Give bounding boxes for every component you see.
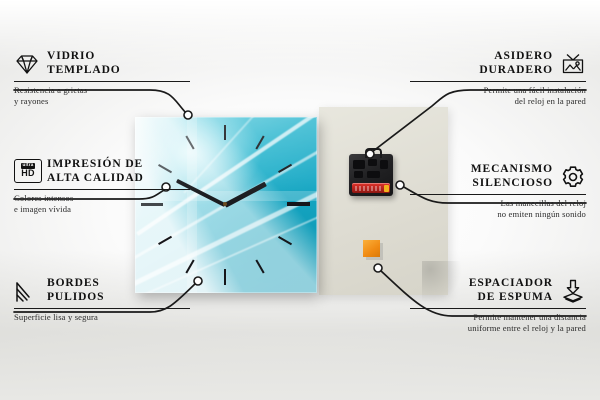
feature-title-line-2: SILENCIOSO	[471, 177, 553, 191]
foam-spacer	[363, 240, 380, 257]
mechanism-detail	[353, 160, 365, 169]
feature-rule	[14, 81, 190, 82]
mechanism-detail	[368, 159, 377, 166]
feature-desc-line-1: Resistencia a grietas	[14, 85, 190, 96]
feature-title: ASIDERO DURADERO	[479, 50, 553, 77]
ultra-hd-icon: ultra HD	[14, 159, 40, 185]
feature-espaciador-de-espuma: ESPACIADOR DE ESPUMA Permite mantener un…	[410, 277, 586, 334]
feature-header: VIDRIO TEMPLADO	[14, 50, 190, 77]
feature-impresion-alta-calidad: ultra HD IMPRESIÓN DE ALTA CALIDAD Color…	[14, 158, 190, 215]
mechanism-detail	[367, 171, 380, 178]
feature-title: VIDRIO TEMPLADO	[47, 50, 121, 77]
feature-title-line-1: VIDRIO	[47, 50, 121, 64]
clock-mechanism	[349, 154, 393, 196]
ultra-hd-icon-large-text: HD	[21, 169, 34, 178]
mechanism-detail	[354, 171, 363, 178]
feature-rule	[410, 308, 586, 309]
feature-desc-line-1: Superficie lisa y segura	[14, 312, 190, 323]
feature-desc-line-2: uniforme entre el reloj y la pared	[410, 323, 586, 334]
feature-description: Colores intensos e imagen vívida	[14, 193, 190, 215]
feature-title-line-1: BORDES	[47, 277, 104, 291]
feature-title: ESPACIADOR DE ESPUMA	[469, 277, 553, 304]
diamond-icon	[14, 51, 40, 77]
feature-title-line-2: TEMPLADO	[47, 64, 121, 78]
feature-title-line-2: DE ESPUMA	[469, 291, 553, 305]
battery-label	[355, 186, 382, 191]
feature-title-line-2: ALTA CALIDAD	[47, 172, 144, 186]
feature-header: ultra HD IMPRESIÓN DE ALTA CALIDAD	[14, 158, 190, 185]
feature-desc-line-2: e imagen vívida	[14, 204, 190, 215]
feature-description: Superficie lisa y segura	[14, 312, 190, 323]
feature-title-line-2: PULIDOS	[47, 291, 104, 305]
feature-rule	[410, 194, 586, 195]
picture-hanger-icon	[560, 51, 586, 77]
feature-title-line-1: ESPACIADOR	[469, 277, 553, 291]
polished-edges-icon	[14, 278, 40, 304]
feature-title: IMPRESIÓN DE ALTA CALIDAD	[47, 158, 144, 185]
feature-header: ASIDERO DURADERO	[410, 50, 586, 77]
feature-description: Resistencia a grietas y rayones	[14, 85, 190, 107]
feature-title-line-1: ASIDERO	[479, 50, 553, 64]
feature-rule	[14, 189, 190, 190]
feature-title-line-1: MECANISMO	[471, 163, 553, 177]
feature-title: MECANISMO SILENCIOSO	[471, 163, 553, 190]
feature-description: Permite una fácil instalación del reloj …	[410, 85, 586, 107]
feature-rule	[14, 308, 190, 309]
feature-asidero-duradero: ASIDERO DURADERO Permite una fácil insta…	[410, 50, 586, 107]
feature-header: BORDES PULIDOS	[14, 277, 190, 304]
feature-mecanismo-silencioso: MECANISMO SILENCIOSO Las manecillas del …	[410, 163, 586, 220]
feature-desc-line-1: Las manecillas del reloj	[410, 198, 586, 209]
feature-description: Las manecillas del reloj no emiten ningú…	[410, 198, 586, 220]
battery	[352, 183, 390, 193]
feature-desc-line-1: Colores intensos	[14, 193, 190, 204]
feature-title-line-2: DURADERO	[479, 64, 553, 78]
feature-desc-line-2: no emiten ningún sonido	[410, 209, 586, 220]
feature-desc-line-2: del reloj en la pared	[410, 96, 586, 107]
feature-title: BORDES PULIDOS	[47, 277, 104, 304]
feature-header: MECANISMO SILENCIOSO	[410, 163, 586, 190]
gear-icon	[560, 164, 586, 190]
feature-desc-line-1: Permite mantener una distancia	[410, 312, 586, 323]
feature-vidrio-templado: VIDRIO TEMPLADO Resistencia a grietas y …	[14, 50, 190, 107]
hanger-hook-icon	[365, 148, 382, 158]
feature-header: ESPACIADOR DE ESPUMA	[410, 277, 586, 304]
battery-positive-terminal	[384, 185, 389, 192]
feature-desc-line-2: y rayones	[14, 96, 190, 107]
infographic-canvas: VIDRIO TEMPLADO Resistencia a grietas y …	[0, 0, 600, 400]
feature-desc-line-1: Permite una fácil instalación	[410, 85, 586, 96]
feature-rule	[410, 81, 586, 82]
foam-spacer-icon	[560, 278, 586, 304]
feature-title-line-1: IMPRESIÓN DE	[47, 158, 144, 172]
feature-bordes-pulidos: BORDES PULIDOS Superficie lisa y segura	[14, 277, 190, 323]
feature-description: Permite mantener una distancia uniforme …	[410, 312, 586, 334]
mechanism-detail	[380, 160, 388, 169]
